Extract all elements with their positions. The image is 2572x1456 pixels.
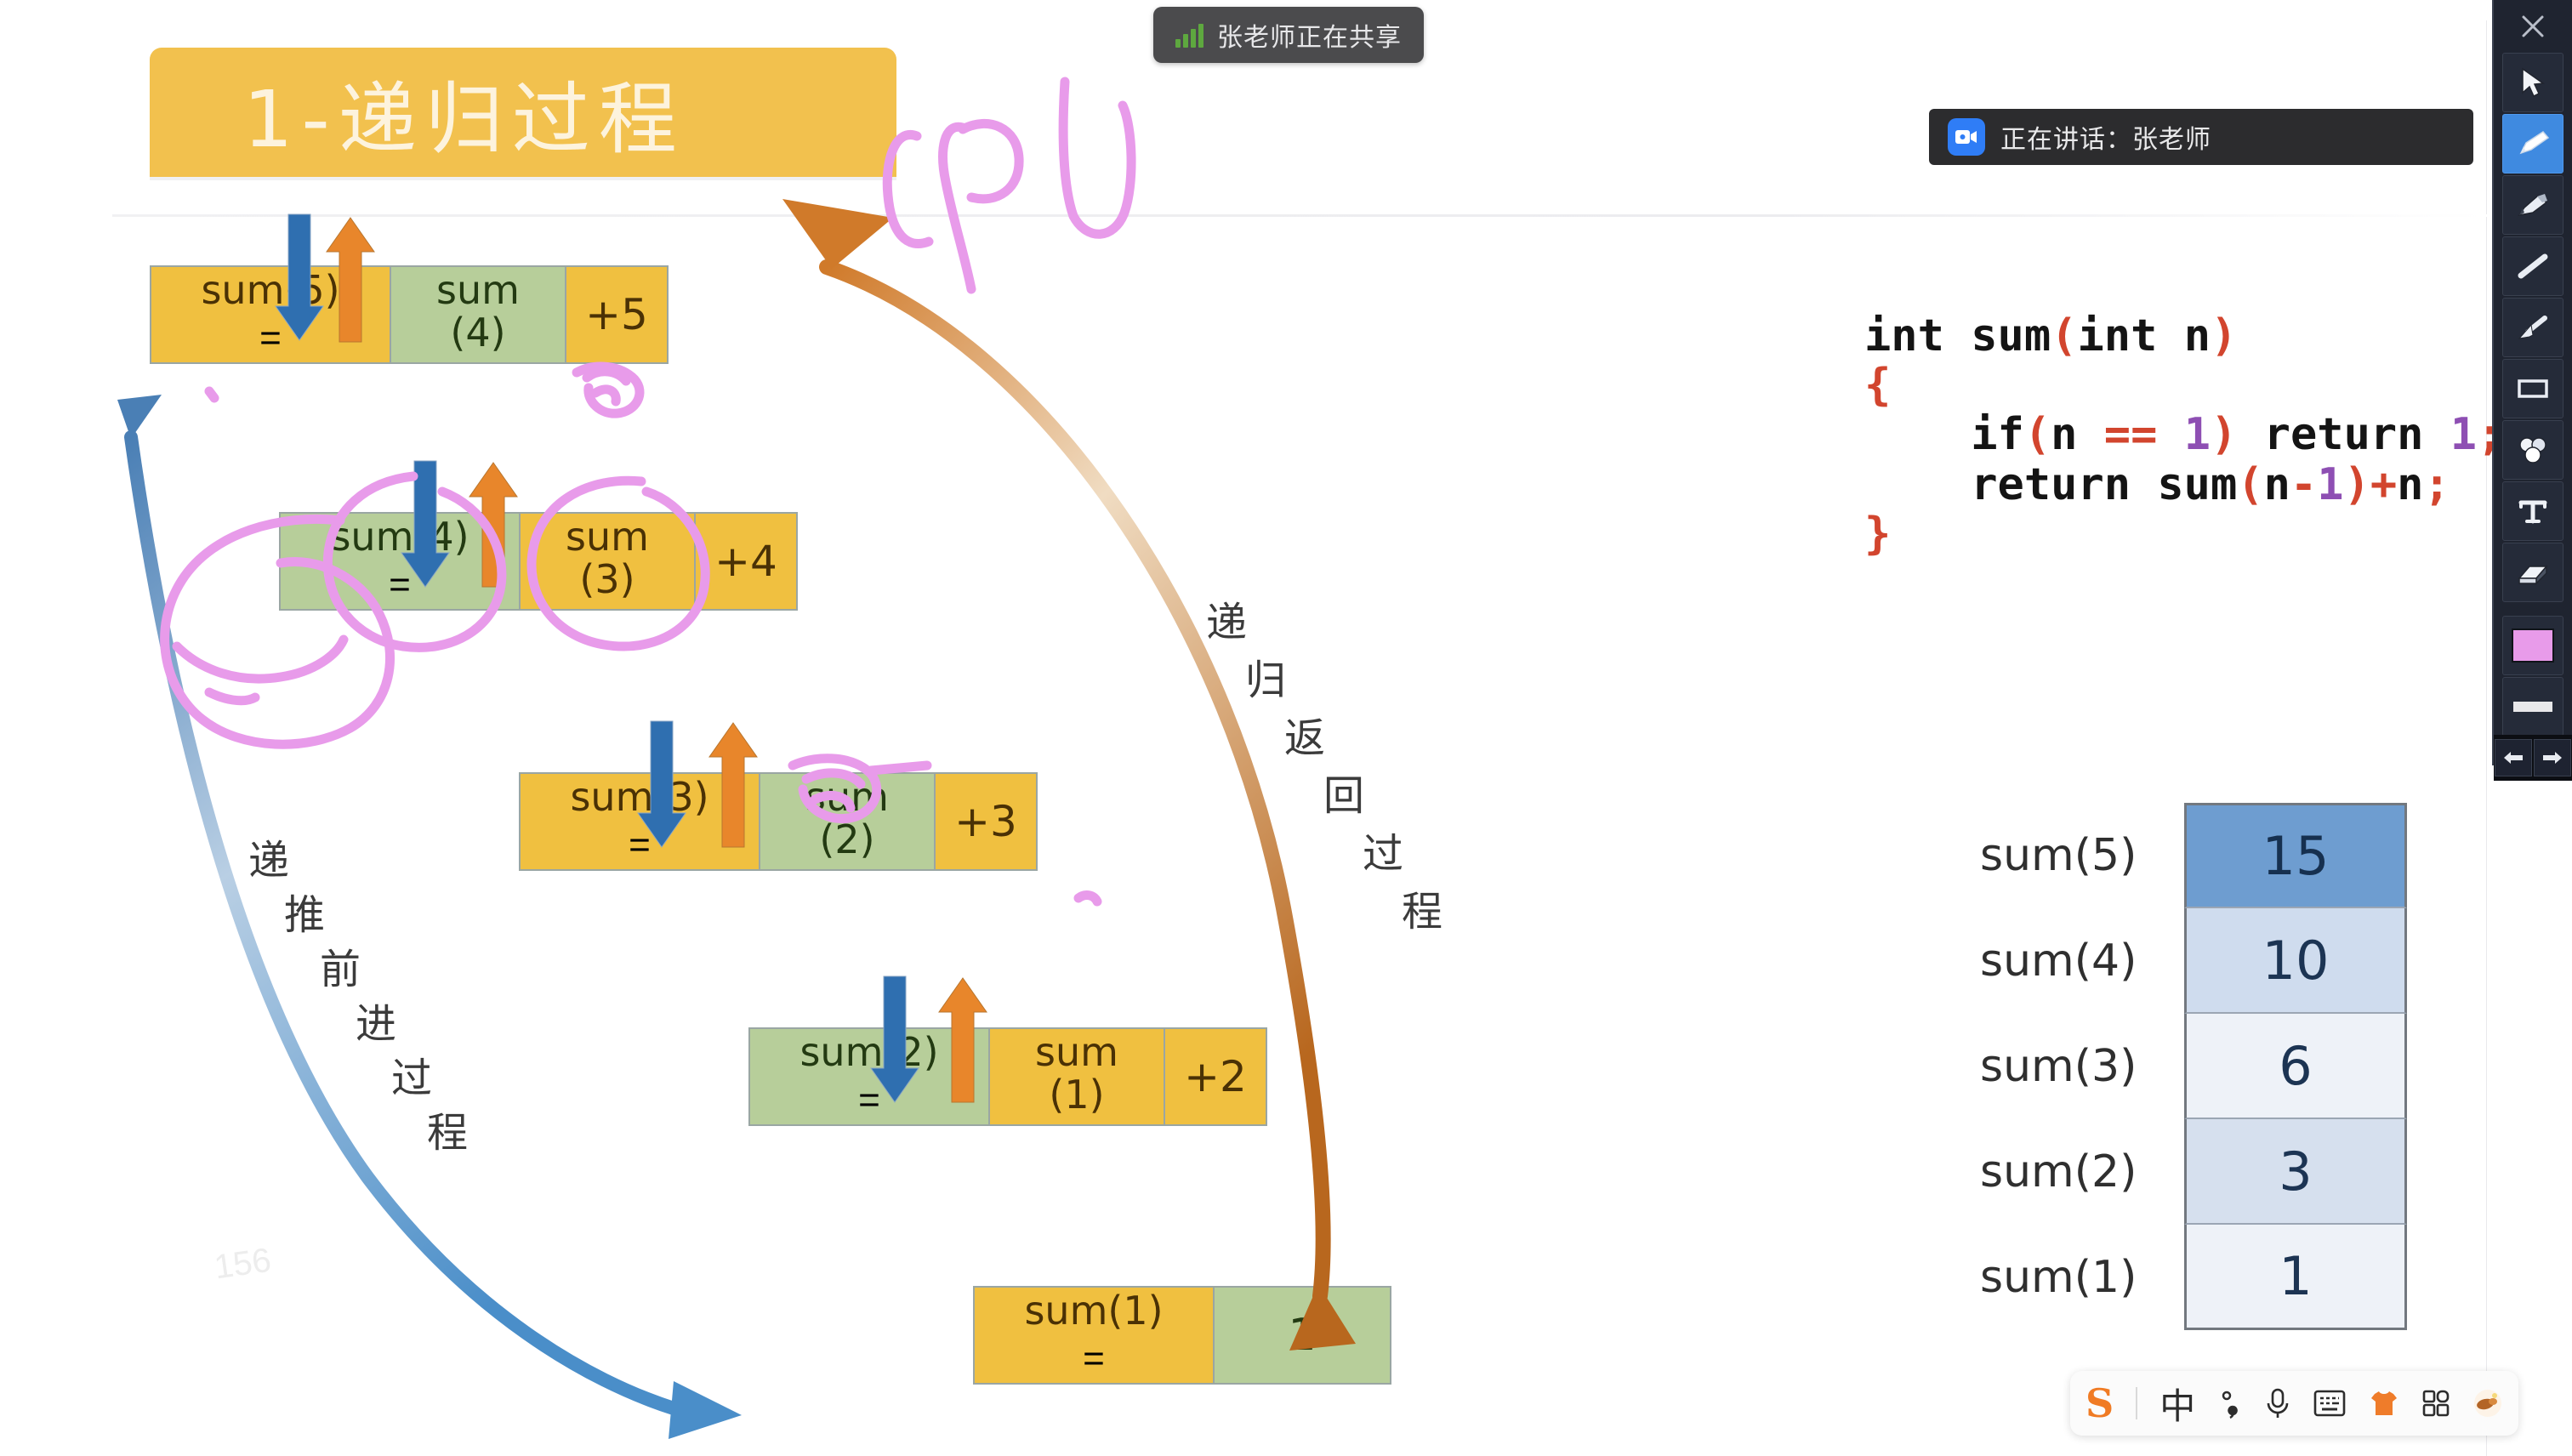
- cursor-icon[interactable]: [2502, 53, 2563, 112]
- code-line-3: if(n == 1) return 1;: [1864, 410, 2503, 459]
- right-flow-char-5: 过: [1363, 820, 1403, 879]
- left-flow-char-5: 过: [391, 1044, 432, 1104]
- color-swatch[interactable]: [2502, 616, 2563, 675]
- undo-redo-group[interactable]: [2494, 735, 2572, 781]
- value-row-label: sum(2): [1980, 1146, 2184, 1197]
- right-flow-char-3: 返: [1284, 704, 1325, 764]
- code-line-4: return sum(n-1)+n;: [1864, 460, 2503, 509]
- punctuation-icon[interactable]: [2217, 1386, 2243, 1420]
- table-row: sum(4)10: [1980, 908, 2407, 1014]
- code-line-1: int sum(int n): [1864, 311, 2503, 361]
- sogou-logo-icon[interactable]: S: [2085, 1380, 2114, 1426]
- skin-icon[interactable]: [2369, 1389, 2399, 1418]
- table-row: sum(3)6: [1980, 1014, 2407, 1119]
- code-block: int sum(int n) { if(n == 1) return 1; re…: [1864, 311, 2503, 559]
- table-row: sum(1)1: [1980, 1225, 2407, 1330]
- microphone-icon[interactable]: [2265, 1385, 2290, 1421]
- signal-bars-icon: [1175, 22, 1203, 48]
- table-row: sum(5)15: [1980, 803, 2407, 908]
- ime-toolbar[interactable]: S 中: [2070, 1371, 2518, 1436]
- apps-grid-icon[interactable]: [2421, 1389, 2450, 1418]
- line-width-icon[interactable]: [2502, 677, 2563, 737]
- slide-canvas: 1-递归过程 156 sum(5)=sum(4)+5sum(4)=sum(3)+…: [112, 20, 2487, 1456]
- rectangle-icon[interactable]: [2502, 359, 2563, 418]
- right-flow-char-1: 递: [1206, 589, 1247, 648]
- arrow-icon[interactable]: [2502, 298, 2563, 357]
- left-flow-char-2: 推: [284, 881, 325, 941]
- sharing-label: 张老师正在共享: [1217, 16, 1402, 54]
- screen-sharing-indicator: 张老师正在共享: [1153, 7, 1424, 63]
- marker-icon[interactable]: [2502, 175, 2563, 235]
- right-flow-char-4: 回: [1323, 762, 1364, 822]
- right-flow-char-6: 程: [1402, 878, 1442, 937]
- value-row-value: 1: [2184, 1225, 2407, 1330]
- pencil-icon[interactable]: [2502, 114, 2563, 173]
- value-row-value: 3: [2184, 1119, 2407, 1225]
- value-row-value: 15: [2184, 803, 2407, 908]
- keyboard-icon[interactable]: [2313, 1388, 2347, 1419]
- avatar-icon[interactable]: [2472, 1388, 2503, 1419]
- value-row-label: sum(4): [1980, 936, 2184, 987]
- current-color: [2512, 628, 2554, 663]
- close-icon[interactable]: [2494, 0, 2572, 53]
- right-flow-char-2: 归: [1245, 646, 1286, 706]
- camera-icon: [1948, 118, 1985, 156]
- value-row-label: sum(1): [1980, 1252, 2184, 1303]
- annotation-toolbar[interactable]: [2492, 0, 2572, 765]
- value-row-label: sum(5): [1980, 830, 2184, 881]
- left-flow-char-4: 进: [356, 990, 396, 1049]
- undo-icon[interactable]: [2495, 739, 2532, 776]
- left-flow-char-6: 程: [427, 1099, 468, 1158]
- left-flow-char-3: 前: [320, 936, 361, 995]
- active-speaker-label: 正在讲话：张老师: [2000, 118, 2211, 156]
- table-row: sum(2)3: [1980, 1119, 2407, 1225]
- text-icon[interactable]: [2502, 481, 2563, 541]
- line-icon[interactable]: [2502, 236, 2563, 296]
- left-flow-char-1: 递: [248, 827, 289, 886]
- screen-root: 1-递归过程 156 sum(5)=sum(4)+5sum(4)=sum(3)+…: [0, 0, 2572, 1456]
- code-line-5: }: [1864, 509, 2503, 559]
- value-table: sum(5)15sum(4)10sum(3)6sum(2)3sum(1)1: [1980, 803, 2407, 1330]
- value-row-value: 10: [2184, 908, 2407, 1014]
- eraser-icon[interactable]: [2502, 543, 2563, 602]
- code-line-2: {: [1864, 361, 2503, 410]
- language-mode-icon[interactable]: 中: [2159, 1378, 2195, 1430]
- active-speaker-indicator: 正在讲话：张老师: [1929, 109, 2473, 165]
- value-row-label: sum(3): [1980, 1041, 2184, 1092]
- value-row-value: 6: [2184, 1014, 2407, 1119]
- shapes-icon[interactable]: [2502, 420, 2563, 480]
- redo-icon[interactable]: [2534, 739, 2571, 776]
- current-line-width: [2513, 702, 2552, 712]
- ime-divider: [2136, 1387, 2137, 1419]
